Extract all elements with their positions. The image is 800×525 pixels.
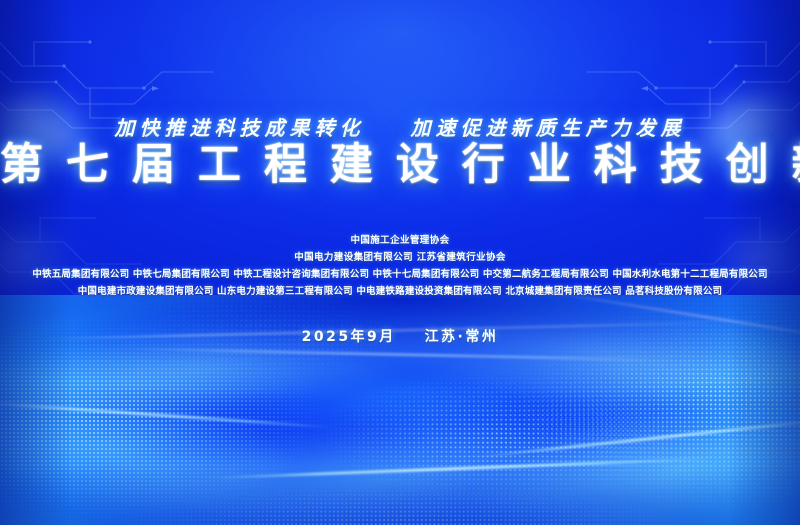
poster-tagline: 加快推进科技成果转化 加速促进新质生产力发展 bbox=[0, 112, 800, 141]
organizer-list: 中国施工企业管理协会 中国电力建设集团有限公司 江苏省建筑行业协会 中铁五局集团… bbox=[0, 232, 800, 300]
event-location: 江苏·常州 bbox=[425, 329, 499, 345]
tagline-right: 加速促进新质生产力发展 bbox=[410, 116, 685, 140]
organizer-line: 中国施工企业管理协会 bbox=[0, 232, 800, 249]
organizer-line: 中国电力建设集团有限公司 江苏省建筑行业协会 bbox=[0, 249, 800, 266]
poster-content: 加快推进科技成果转化 加速促进新质生产力发展 第 七 届 工 程 建 设 行 业… bbox=[0, 0, 800, 525]
tagline-left: 加快推进科技成果转化 bbox=[115, 116, 365, 140]
organizer-line: 中铁五局集团有限公司 中铁七局集团有限公司 中铁工程设计咨询集团有限公司 中铁十… bbox=[0, 266, 800, 283]
organizer-line: 中国电建市政建设集团有限公司 山东电力建设第三工程有限公司 中电建铁路建设投资集… bbox=[0, 283, 800, 300]
event-date: 2025年9月 bbox=[302, 329, 396, 345]
conference-poster: 加快推进科技成果转化 加速促进新质生产力发展 第 七 届 工 程 建 设 行 业… bbox=[0, 0, 800, 525]
poster-headline: 第 七 届 工 程 建 设 行 业 科 技 创 新 大 会 bbox=[0, 142, 800, 188]
event-meta: 2025年9月 江苏·常州 bbox=[0, 326, 800, 346]
